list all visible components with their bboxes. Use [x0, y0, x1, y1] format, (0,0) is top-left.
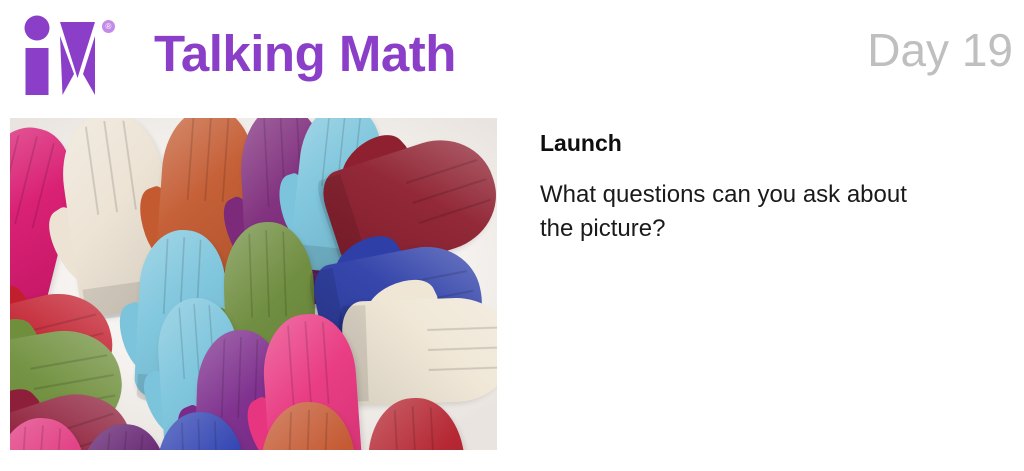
glove-cream-2 — [341, 296, 497, 406]
slide-content: Launch What questions can you ask about … — [0, 110, 1024, 471]
day-label: Day 19 — [867, 27, 1013, 73]
launch-section: Launch What questions can you ask about … — [540, 130, 980, 246]
page-title: Talking Math — [154, 28, 456, 83]
registered-trademark-icon: ® — [102, 20, 115, 33]
gloves-photo — [10, 118, 497, 450]
slide-header: ® Talking Math Day 19 — [0, 0, 1024, 110]
launch-heading: Launch — [540, 130, 980, 158]
gloves-photo-canvas — [10, 118, 497, 450]
launch-prompt: What questions can you ask about the pic… — [540, 178, 932, 246]
brand-block: ® Talking Math — [16, 14, 456, 96]
im-logo: ® — [16, 14, 120, 96]
